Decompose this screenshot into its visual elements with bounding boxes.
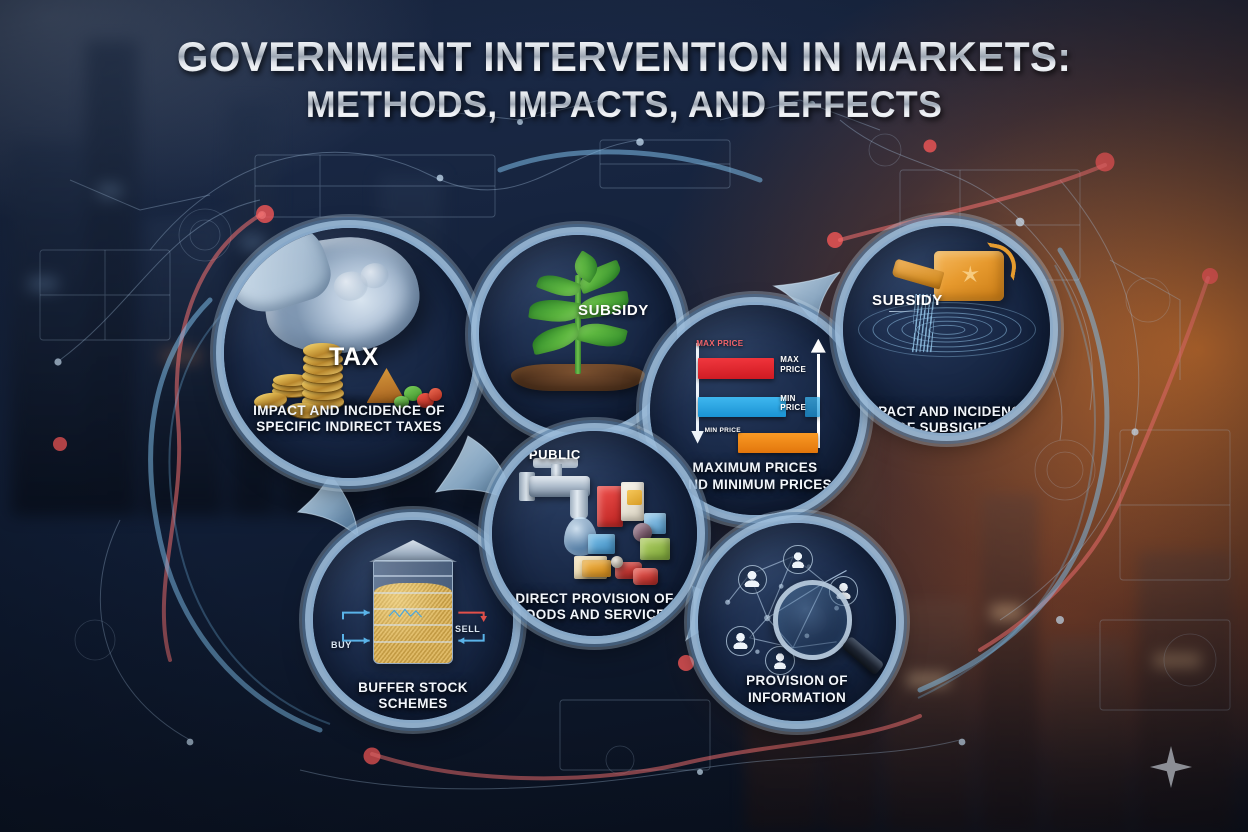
node-provision-of-information[interactable]: PROVISION OF INFORMATION: [698, 523, 896, 721]
up-arrow-icon: [814, 339, 824, 448]
node-subsidy-seedling[interactable]: SUBSIDY: [479, 235, 677, 433]
sell-tag: SELL: [455, 624, 480, 634]
page-title: GOVERNMENT INTERVENTION IN MARKETS: METH…: [0, 36, 1248, 124]
subsidy-tag: SUBSIDY: [872, 292, 943, 309]
node-impact-incidence-subsidies[interactable]: SUBSIDY IMPACT AND INCIDENCE DF SUBSIGIE…: [843, 226, 1050, 433]
min-price-tag: MIN PRICE: [780, 394, 806, 412]
title-line-2: METHODS, IMPACTS, AND EFFECTS: [19, 86, 1230, 124]
person-pair-node-icon-2: [726, 626, 756, 656]
watering-can-icon: [843, 226, 1050, 433]
node-label: IMPACT AND INCIDENCE OF SPECIFIC INDIREC…: [239, 403, 459, 436]
node-label: DIRECT PROVISION OF GOODS AND SERVICES: [492, 591, 697, 624]
node-label: BUFFER STOCK SCHEMES: [325, 680, 501, 713]
node-label: IMPACT AND INCIDENCE DF SUBSIGIES: [843, 404, 1050, 433]
tax-tag: TAX: [329, 343, 379, 372]
node-buffer-stock-schemes[interactable]: BUY SELL BUFFER STOCK SCHEMES: [313, 520, 513, 720]
axis-max-price-tag: MAX PRICE: [696, 339, 743, 348]
subsidy-tag: SUBSIDY: [578, 302, 649, 319]
node-impact-incidence-indirect-taxes[interactable]: TAX IMPACT AND INCIDENCE OF SPECIFIC IND…: [224, 228, 474, 478]
infographic-canvas: GOVERNMENT INTERVENTION IN MARKETS: METH…: [0, 0, 1248, 832]
seedling-plant-icon: [479, 235, 677, 433]
buy-tag: BUY: [331, 640, 352, 650]
person-node-icon: [783, 545, 813, 575]
title-line-1: GOVERNMENT INTERVENTION IN MARKETS:: [19, 36, 1230, 79]
node-label: PROVISION OF INFORMATION: [710, 673, 884, 706]
max-price-tag: MAX PRICE: [780, 355, 806, 373]
min-price-floor-tag: MIN PRICE: [705, 427, 741, 434]
node-direct-provision-goods-services[interactable]: PUBLIC DIRECT PROVISION OF GOODS AND SER…: [492, 431, 697, 636]
public-tag: PUBLIC: [529, 447, 581, 462]
